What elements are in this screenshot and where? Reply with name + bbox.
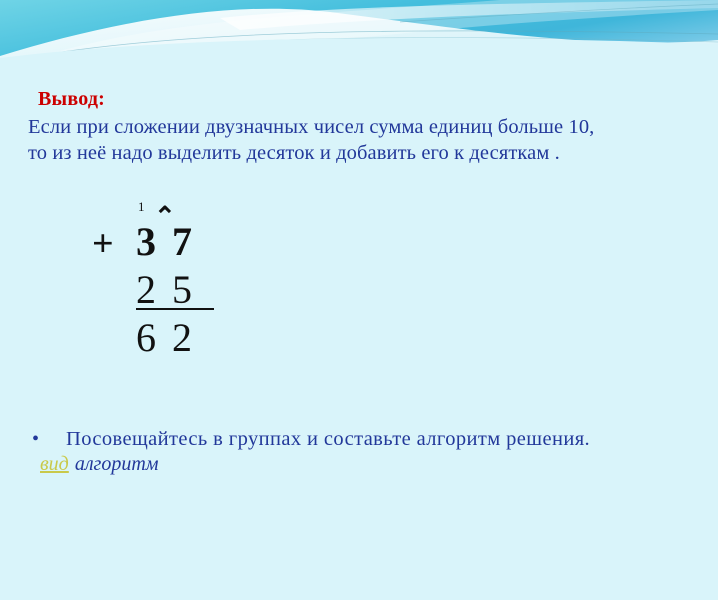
decorative-wave-banner <box>0 0 718 72</box>
conclusion-line-2: то из неё надо выделить десяток и добави… <box>28 142 560 165</box>
addend-first: 3 7 <box>136 222 226 262</box>
algorithm-label: алгоритм <box>75 453 159 475</box>
bullet-icon: • <box>32 428 66 451</box>
algorithm-link-row: видалгоритм <box>40 453 159 476</box>
column-addition-example: + 1 ⌃ 3 7 2 5 6 2 <box>92 200 272 360</box>
conclusion-title: Вывод: <box>38 88 105 111</box>
sum-divider-line <box>136 308 214 310</box>
slide-canvas: Вывод: Если при сложении двузначных чисе… <box>0 0 718 600</box>
carry-digit: 1 <box>138 200 145 213</box>
task-bullet-row: •Посовещайтесь в группах и составьте алг… <box>32 428 590 451</box>
addend-second: 2 5 <box>136 270 226 310</box>
sum-result: 6 2 <box>136 318 226 358</box>
task-bullet-text: Посовещайтесь в группах и составьте алго… <box>66 428 590 450</box>
wave-graphic <box>0 0 718 72</box>
conclusion-line-1: Если при сложении двузначных чисел сумма… <box>28 116 594 139</box>
addition-operator: + <box>92 225 114 263</box>
algorithm-view-link[interactable]: вид <box>40 453 69 475</box>
